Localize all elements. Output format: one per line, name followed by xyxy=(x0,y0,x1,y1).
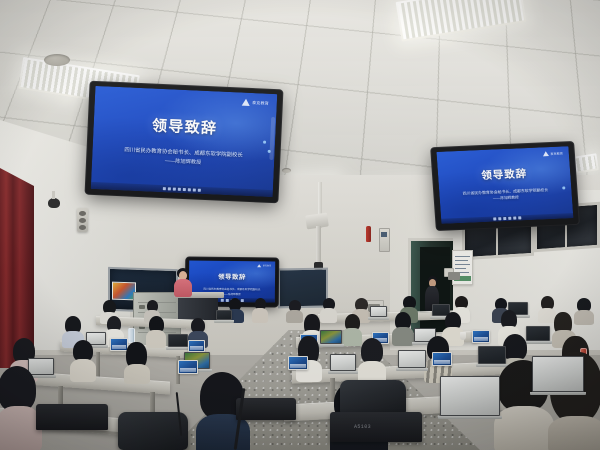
slide-title: 领导致辞 xyxy=(438,164,571,185)
conference-brochure[interactable] xyxy=(188,340,205,352)
conference-brochure[interactable] xyxy=(288,356,308,370)
attendee-torso xyxy=(252,308,268,323)
classroom-conference-photo: 泰克教育 领导致辞 四川省民办教育协会秘书长、成都东软学院副校长 ——陈旭辉教授… xyxy=(0,0,600,450)
right-ceiling-display[interactable]: 泰克教育 领导致辞 四川省民办教育协会秘书长、成都东软学院副校长 ——陈旭辉教授 xyxy=(431,142,579,230)
attendee-torso xyxy=(548,416,600,450)
attendee-torso xyxy=(320,308,337,323)
logo-text: 泰克教育 xyxy=(550,151,563,156)
taskbar-icon[interactable] xyxy=(513,217,516,220)
taskbar-icon[interactable] xyxy=(193,188,196,191)
ac-control-panel[interactable] xyxy=(379,228,390,252)
attendee xyxy=(252,298,268,322)
conference-brochure[interactable] xyxy=(472,330,490,343)
taskbar-icon[interactable] xyxy=(178,188,181,191)
taskbar-icon[interactable] xyxy=(183,188,186,191)
attendee xyxy=(358,338,386,382)
screen-indicator-dot xyxy=(562,186,565,189)
security-camera-icon xyxy=(48,198,60,208)
logo-mark-icon xyxy=(242,99,250,106)
lectern xyxy=(178,296,218,320)
attendee xyxy=(70,340,96,380)
slide-title: 领导致辞 xyxy=(93,112,276,141)
laptop[interactable] xyxy=(320,330,342,344)
fire-extinguisher-icon xyxy=(366,226,371,242)
attendee xyxy=(320,298,337,322)
taskbar-icon[interactable] xyxy=(503,217,506,220)
desk-leg xyxy=(96,352,100,378)
brand-logo: 泰克教育 xyxy=(242,99,269,107)
logo-text: 泰克教育 xyxy=(252,100,269,107)
laptop[interactable] xyxy=(440,376,500,416)
taskbar-icon[interactable] xyxy=(198,189,201,192)
taskbar-icon[interactable] xyxy=(188,188,191,191)
attendee-torso xyxy=(494,406,554,450)
speaker xyxy=(172,268,194,298)
attendee-torso xyxy=(574,310,594,325)
taskbar-icon[interactable] xyxy=(493,217,496,220)
chair[interactable] xyxy=(36,404,108,430)
laptop[interactable] xyxy=(370,306,387,317)
laptop[interactable] xyxy=(398,350,426,368)
wall-socket-panel xyxy=(444,268,454,277)
attendee xyxy=(124,342,150,380)
attendee xyxy=(392,312,414,344)
conference-brochure[interactable] xyxy=(432,352,452,366)
wall-speaker xyxy=(77,208,88,232)
attendee-torso xyxy=(286,310,303,323)
attendee xyxy=(286,300,303,322)
slide-title: 领导致辞 xyxy=(189,272,275,282)
taskbar-icon[interactable] xyxy=(498,217,501,220)
taskbar-icon[interactable] xyxy=(163,187,166,190)
logo-mark-icon xyxy=(542,151,548,156)
attendee-hair xyxy=(503,334,527,361)
ceiling-mount-tube xyxy=(316,226,321,264)
backpack[interactable] xyxy=(340,380,406,416)
chair[interactable] xyxy=(236,398,296,420)
logo-text: 泰克教育 xyxy=(263,264,271,267)
screen-indicator-dot xyxy=(263,141,266,144)
laptop[interactable] xyxy=(532,356,584,392)
paper-cup[interactable] xyxy=(460,332,466,340)
conference-brochure[interactable] xyxy=(178,360,198,374)
attendee-torso xyxy=(392,327,414,346)
attendee xyxy=(574,298,594,324)
taskbar-icon[interactable] xyxy=(508,217,511,220)
taskbar-icon[interactable] xyxy=(518,216,521,219)
display-screen: 泰克教育 领导致辞 四川省民办教育协会秘书长、成都东软学院副校长 ——陈旭辉教授 xyxy=(436,146,573,224)
logo-mark-icon xyxy=(257,264,261,267)
smoke-detector-icon xyxy=(282,168,291,173)
brand-logo: 泰克教育 xyxy=(542,150,563,156)
attendee-torso xyxy=(70,359,96,382)
laptop[interactable] xyxy=(216,310,232,320)
chair[interactable] xyxy=(330,412,422,442)
taskbar-icon[interactable] xyxy=(168,187,171,190)
water-bottle[interactable] xyxy=(128,328,135,343)
taskbar-icon[interactable] xyxy=(173,188,176,191)
attendee-torso xyxy=(124,364,150,384)
taskbar-icon[interactable] xyxy=(220,298,223,301)
ceiling-vent xyxy=(44,54,70,66)
display-screen: 泰克教育 领导致辞 四川省民办教育协会秘书长、成都东软学院副校长 ——陈旭辉教授 xyxy=(91,86,277,197)
brand-logo: 泰克教育 xyxy=(257,264,271,267)
speaker-torso xyxy=(174,279,192,297)
main-ceiling-display[interactable]: 泰克教育 领导致辞 四川省民办教育协会秘书长、成都东软学院副校长 ——陈旭辉教授 xyxy=(86,82,283,203)
laptop[interactable] xyxy=(330,354,356,371)
chair-room-label: A5103 xyxy=(354,424,371,430)
laptop[interactable] xyxy=(168,334,188,347)
